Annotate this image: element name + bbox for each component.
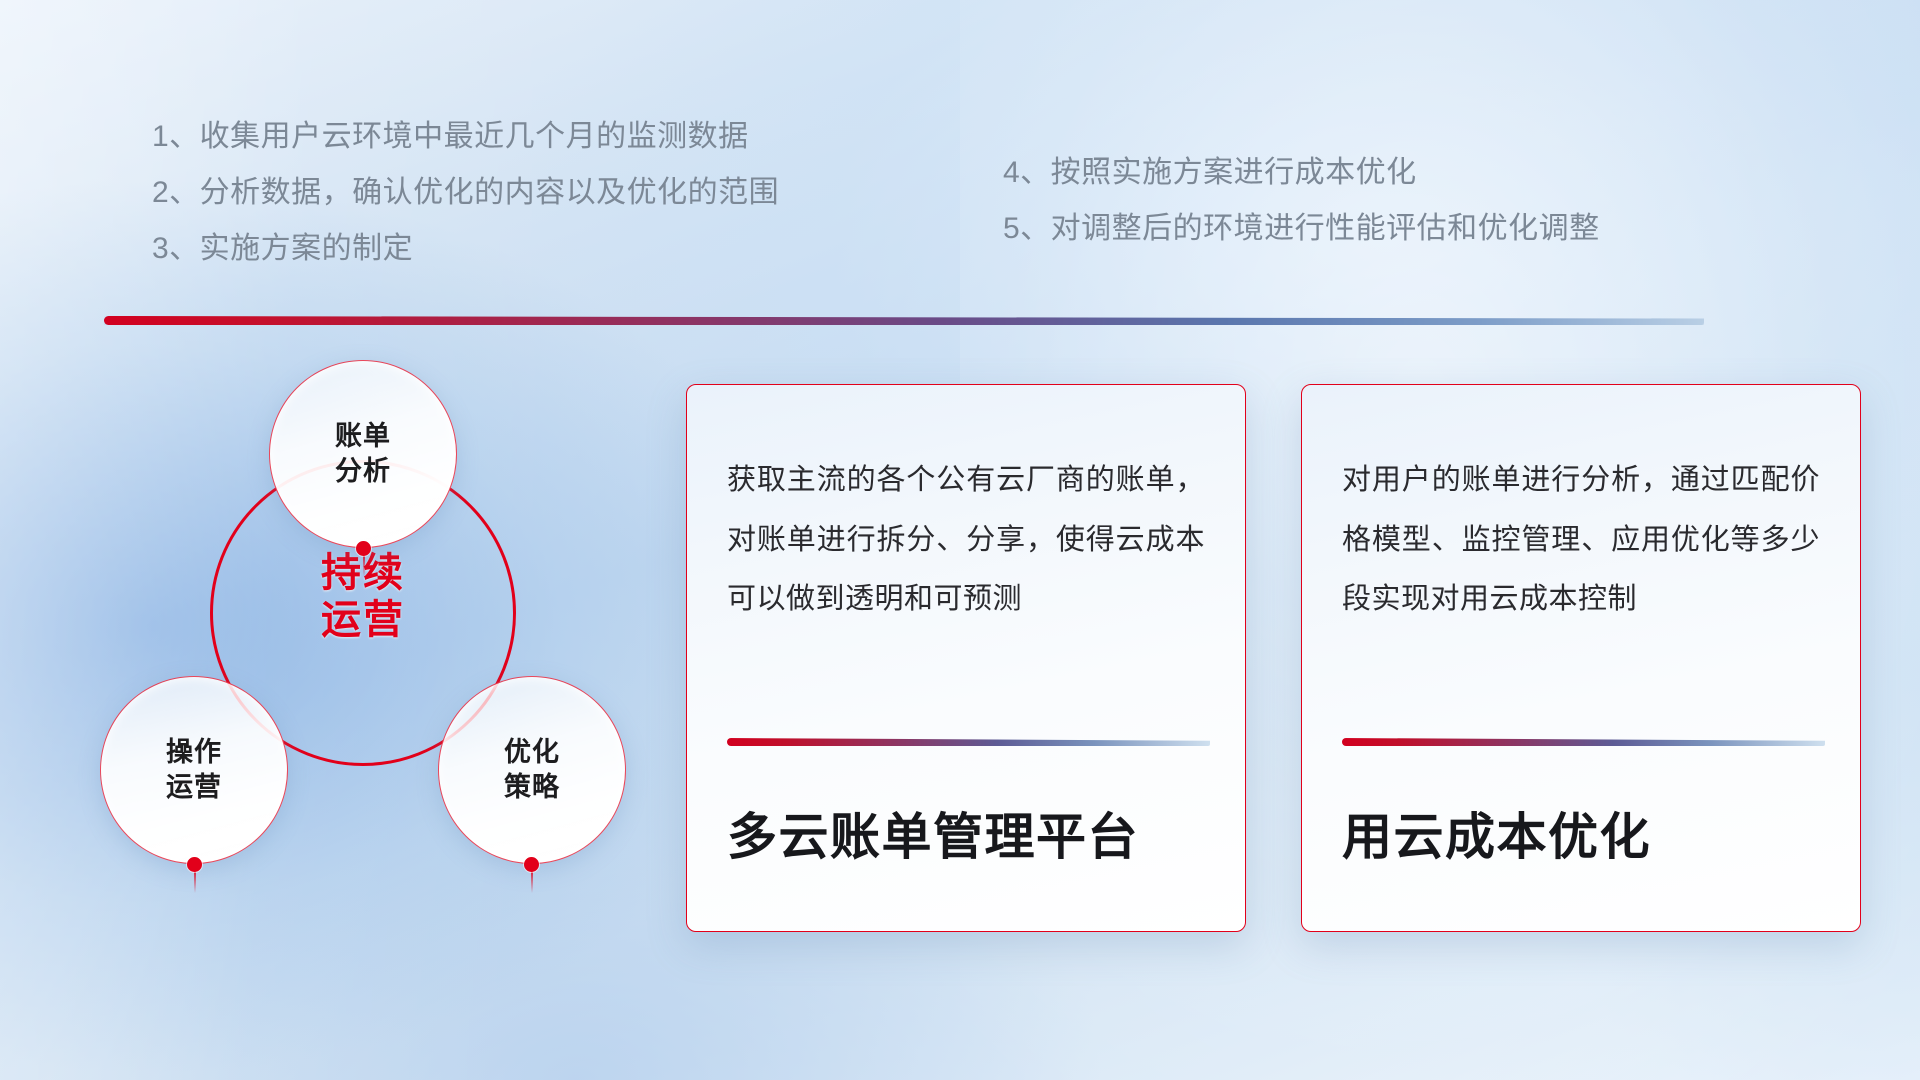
bubble-operations-label: 操作 运营 [166,735,222,804]
bubble-label-line1: 操作 [166,735,222,770]
card-title: 用云成本优化 [1342,797,1651,869]
step-item-2: 2、分析数据，确认优化的内容以及优化的范围 [152,178,779,208]
card-divider [727,738,1210,746]
step-item-1: 1、收集用户云环境中最近几个月的监测数据 [152,122,779,152]
steps-left-column: 1、收集用户云环境中最近几个月的监测数据 2、分析数据，确认优化的内容以及优化的… [152,122,779,290]
section-divider [104,316,1704,325]
feature-cards: 获取主流的各个公有云厂商的账单，对账单进行拆分、分享，使得云成本可以做到透明和可… [686,384,1861,932]
card-divider [1342,738,1825,746]
slide-canvas: 1、收集用户云环境中最近几个月的监测数据 2、分析数据，确认优化的内容以及优化的… [0,0,1920,1080]
card-body-text: 获取主流的各个公有云厂商的账单，对账单进行拆分、分享，使得云成本可以做到透明和可… [727,451,1205,651]
bubble-bill-analysis-label: 账单 分析 [335,419,391,488]
node-tail-top [363,555,365,577]
step-item-3: 3、实施方案的制定 [152,234,779,264]
bubble-label-line1: 优化 [504,735,560,770]
steps-right-column: 4、按照实施方案进行成本优化 5、对调整后的环境进行性能评估和优化调整 [1003,158,1600,270]
step-item-4: 4、按照实施方案进行成本优化 [1003,158,1600,188]
bubble-label-line2: 分析 [335,454,391,489]
bubble-optimization-strategy-label: 优化 策略 [504,735,560,804]
node-dot-top [356,541,371,556]
node-dot-right [524,857,539,872]
card-cloud-cost-optimization[interactable]: 对用户的账单进行分析，通过匹配价格模型、监控管理、应用优化等多少段实现对用云成本… [1301,384,1861,932]
bubble-optimization-strategy[interactable]: 优化 策略 [438,676,626,864]
node-tail-right [531,871,533,893]
node-tail-left [194,871,196,893]
bubble-bill-analysis[interactable]: 账单 分析 [269,360,457,548]
continuous-operations-diagram: 持续 运营 账单 分析 操作 运营 优化 策略 [100,360,640,960]
bubble-label-line1: 账单 [335,419,391,454]
bubble-label-line2: 策略 [504,770,560,805]
node-dot-left [187,857,202,872]
bubble-label-line2: 运营 [166,770,222,805]
step-item-5: 5、对调整后的环境进行性能评估和优化调整 [1003,214,1600,244]
card-multicloud-bill-platform[interactable]: 获取主流的各个公有云厂商的账单，对账单进行拆分、分享，使得云成本可以做到透明和可… [686,384,1246,932]
bubble-operations[interactable]: 操作 运营 [100,676,288,864]
card-title: 多云账单管理平台 [727,797,1139,869]
center-label-line2: 运营 [210,597,516,644]
card-body-text: 对用户的账单进行分析，通过匹配价格模型、监控管理、应用优化等多少段实现对用云成本… [1342,451,1820,651]
